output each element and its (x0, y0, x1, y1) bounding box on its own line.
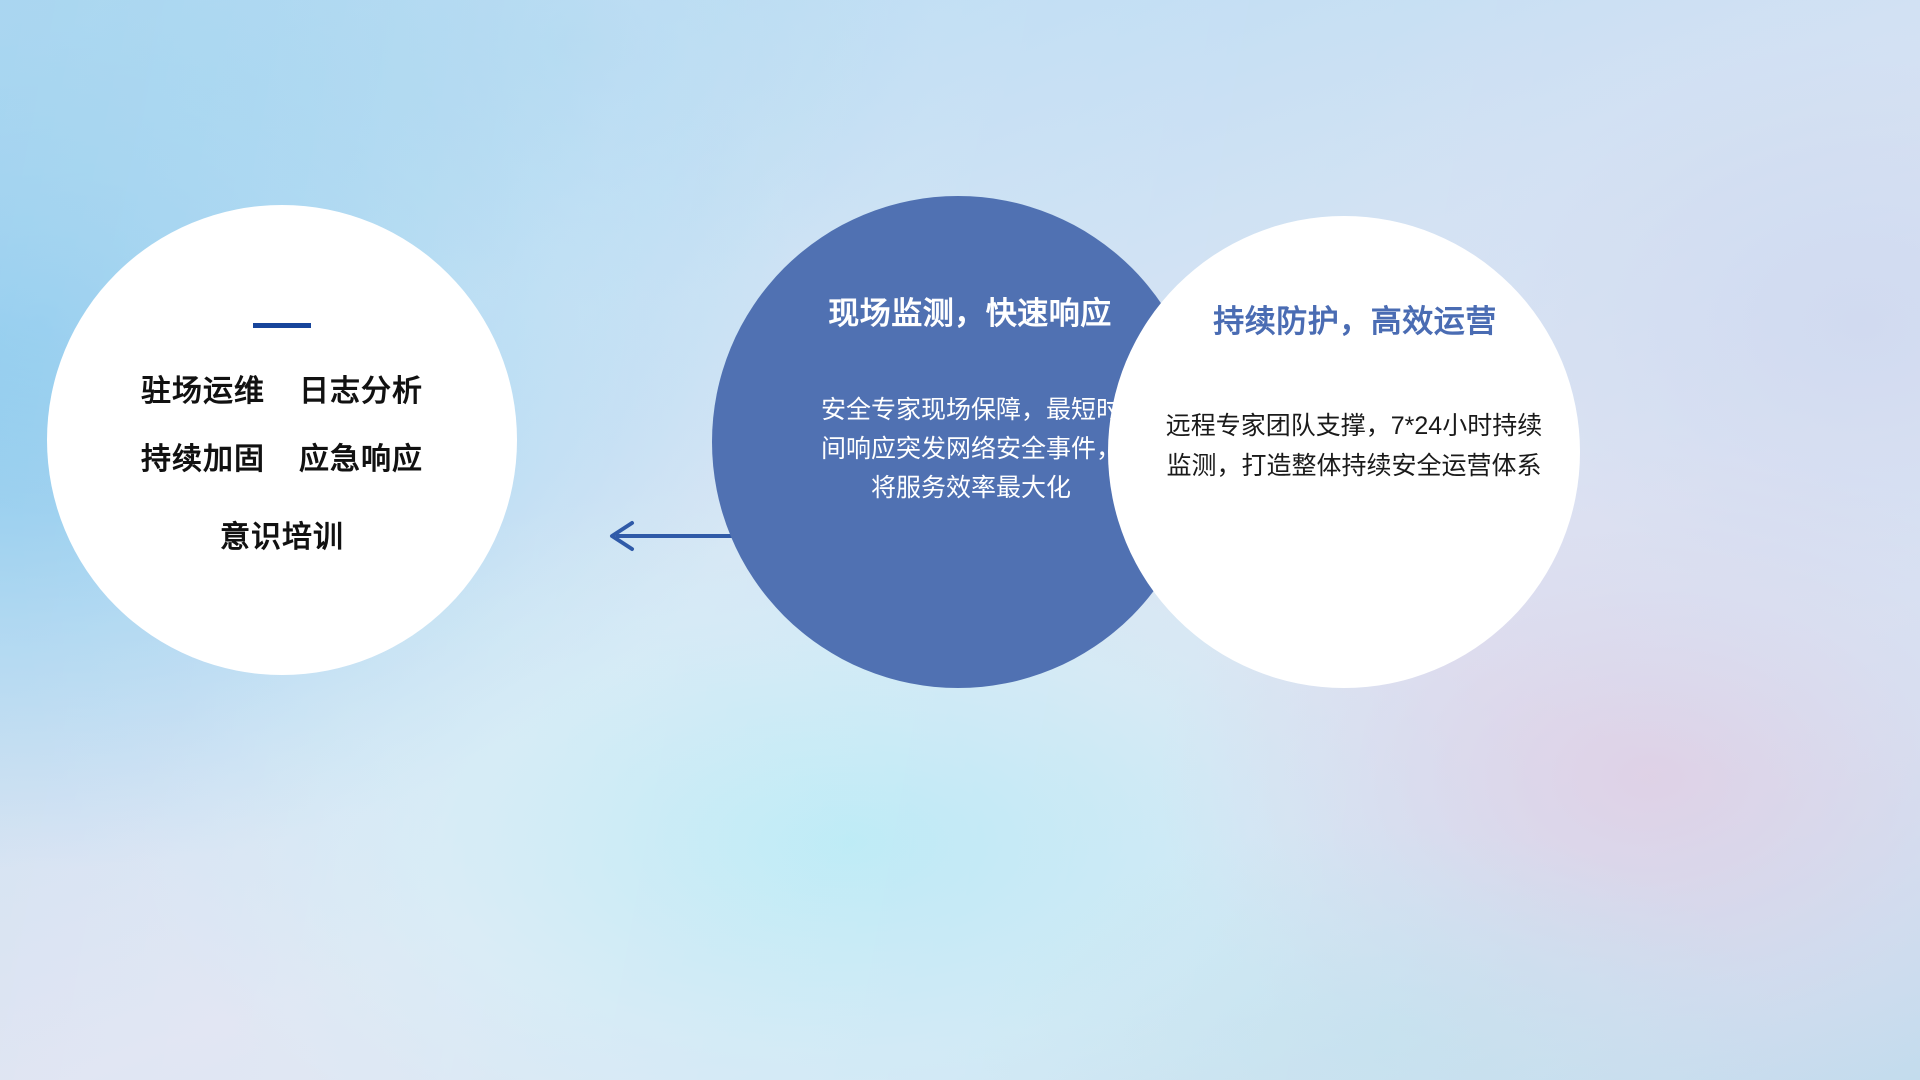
capability-tag: 持续加固 (141, 434, 265, 478)
capability-tag: 驻场运维 (141, 366, 265, 410)
center-circle-body: 安全专家现场保障，最短时间响应突发网络安全事件，将服务效率最大化 (811, 391, 1131, 507)
tag-row: 持续加固 应急响应 (141, 434, 423, 478)
right-circle-title: 持续防护，高效运营 (1213, 296, 1497, 341)
tag-row: 意识培训 (220, 512, 344, 556)
capability-tags-circle: 驻场运维 日志分析 持续加固 应急响应 意识培训 (47, 205, 517, 675)
center-circle-title: 现场监测，快速响应 (828, 288, 1112, 333)
capability-tag: 意识培训 (220, 512, 344, 556)
slide-canvas: 驻场运维 日志分析 持续加固 应急响应 意识培训 现场监测，快速响应 安全专家现… (0, 0, 1920, 1080)
capability-tag: 日志分析 (299, 366, 423, 410)
tag-row: 驻场运维 日志分析 (141, 366, 423, 410)
accent-dash-icon (253, 323, 311, 328)
right-circle-body: 远程专家团队支撑，7*24小时持续监测，打造整体持续安全运营体系 (1154, 407, 1554, 486)
capability-tag: 应急响应 (299, 434, 423, 478)
continuous-protection-circle: 持续防护，高效运营 远程专家团队支撑，7*24小时持续监测，打造整体持续安全运营… (1108, 216, 1580, 688)
